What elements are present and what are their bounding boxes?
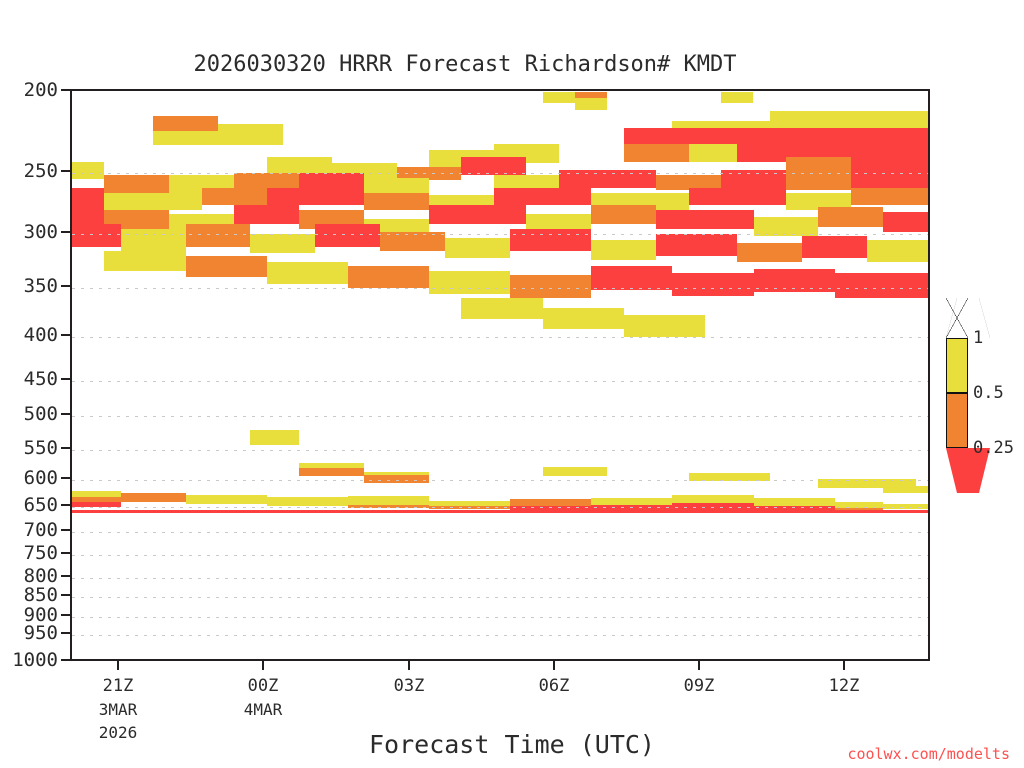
y-axis-tick-label: 750 [24, 542, 58, 564]
x-axis-tick [117, 661, 119, 670]
y-axis-tick [61, 447, 70, 449]
y-axis-tick-label: 950 [24, 622, 58, 644]
x-axis-tick-label: 21Z [103, 676, 134, 696]
colorbar-segment [946, 393, 968, 448]
y-axis-tick [61, 334, 70, 336]
y-axis-tick [61, 413, 70, 415]
page-title: 2026030320 HRRR Forecast Richardson# KMD… [0, 52, 930, 77]
x-axis-tick [698, 661, 700, 670]
y-axis-tick-label: 300 [24, 221, 58, 243]
y-axis-tick-label: 600 [24, 467, 58, 489]
y-axis-tick-label: 200 [24, 79, 58, 101]
y-axis-tick-label: 450 [24, 368, 58, 390]
x-axis-sublabel: 3MAR [99, 700, 138, 719]
x-axis-tick [262, 661, 264, 670]
colorbar-tick-label: 0.5 [973, 383, 1004, 403]
y-axis-tick [61, 614, 70, 616]
x-axis-tick-label: 03Z [394, 676, 425, 696]
y-axis-tick-label: 850 [24, 584, 58, 606]
y-axis-tick [61, 477, 70, 479]
x-axis-tick [843, 661, 845, 670]
y-axis-tick-label: 250 [24, 160, 58, 182]
x-axis-tick-label: 00Z [248, 676, 279, 696]
source-credit: coolwx.com/modelts [847, 745, 1010, 763]
x-axis-tick-label: 06Z [539, 676, 570, 696]
x-axis-tick-label: 09Z [684, 676, 715, 696]
colorbar-segment [946, 338, 968, 393]
x-axis-tick [553, 661, 555, 670]
colorbar-tick-label: 0.25 [973, 438, 1014, 458]
y-axis-tick [61, 659, 70, 661]
y-axis-tick-label: 550 [24, 437, 58, 459]
y-axis-tick-label: 650 [24, 494, 58, 516]
y-axis-tick [61, 231, 70, 233]
y-axis-tick [61, 170, 70, 172]
y-axis-tick [61, 594, 70, 596]
y-axis-tick [61, 632, 70, 634]
y-axis-tick [61, 529, 70, 531]
y-axis-tick-label: 1000 [12, 649, 58, 671]
y-axis-tick [61, 504, 70, 506]
y-axis-tick [61, 552, 70, 554]
y-axis-tick-label: 350 [24, 275, 58, 297]
y-axis-tick-label: 500 [24, 403, 58, 425]
richardson-number-colorbar: 10.50.25 [941, 298, 975, 478]
chart-canvas: 2026030320 HRRR Forecast Richardson# KMD… [0, 0, 1024, 768]
x-axis-tick-label: 12Z [829, 676, 860, 696]
y-axis-tick-label: 700 [24, 519, 58, 541]
terrain-band [72, 91, 928, 659]
x-axis-sublabel: 4MAR [244, 700, 283, 719]
colorbar-top-cap-outline [946, 298, 968, 338]
y-axis-tick [61, 285, 70, 287]
colorbar-tick-label: 1 [973, 328, 983, 348]
y-axis-tick [61, 89, 70, 91]
y-axis-tick [61, 378, 70, 380]
y-axis-tick-label: 400 [24, 324, 58, 346]
x-axis-tick [408, 661, 410, 670]
plot-area [70, 89, 930, 661]
y-axis-tick [61, 575, 70, 577]
